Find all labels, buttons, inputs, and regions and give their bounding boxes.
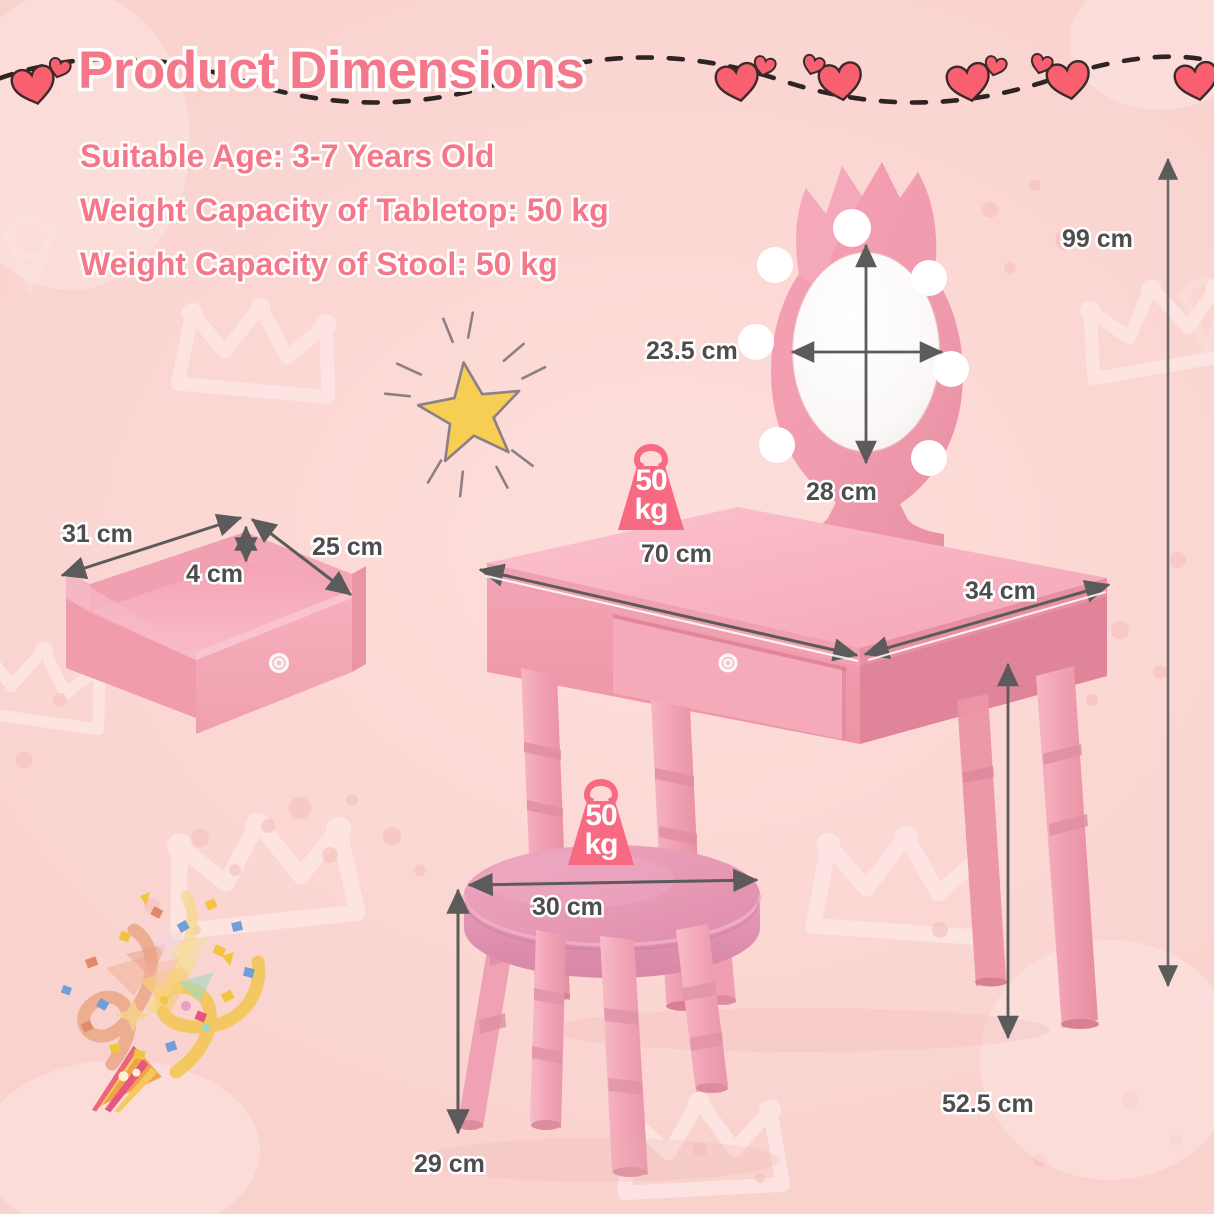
dim-stool-width: 30 cm xyxy=(532,893,603,922)
weight-badge-tabletop: 50 kg xyxy=(608,440,694,532)
dim-stool-height: 29 cm xyxy=(414,1150,485,1179)
infographic-canvas: Product Dimensions Suitable Age: 3-7 Yea… xyxy=(0,0,1214,1214)
weight-badge-stool: 50 kg xyxy=(558,775,644,867)
weight-badge-tabletop-icon xyxy=(608,440,694,532)
weight-badge-stool-icon xyxy=(558,775,644,867)
stool-illustration xyxy=(0,0,1214,1214)
stool-svg xyxy=(0,0,1214,1214)
